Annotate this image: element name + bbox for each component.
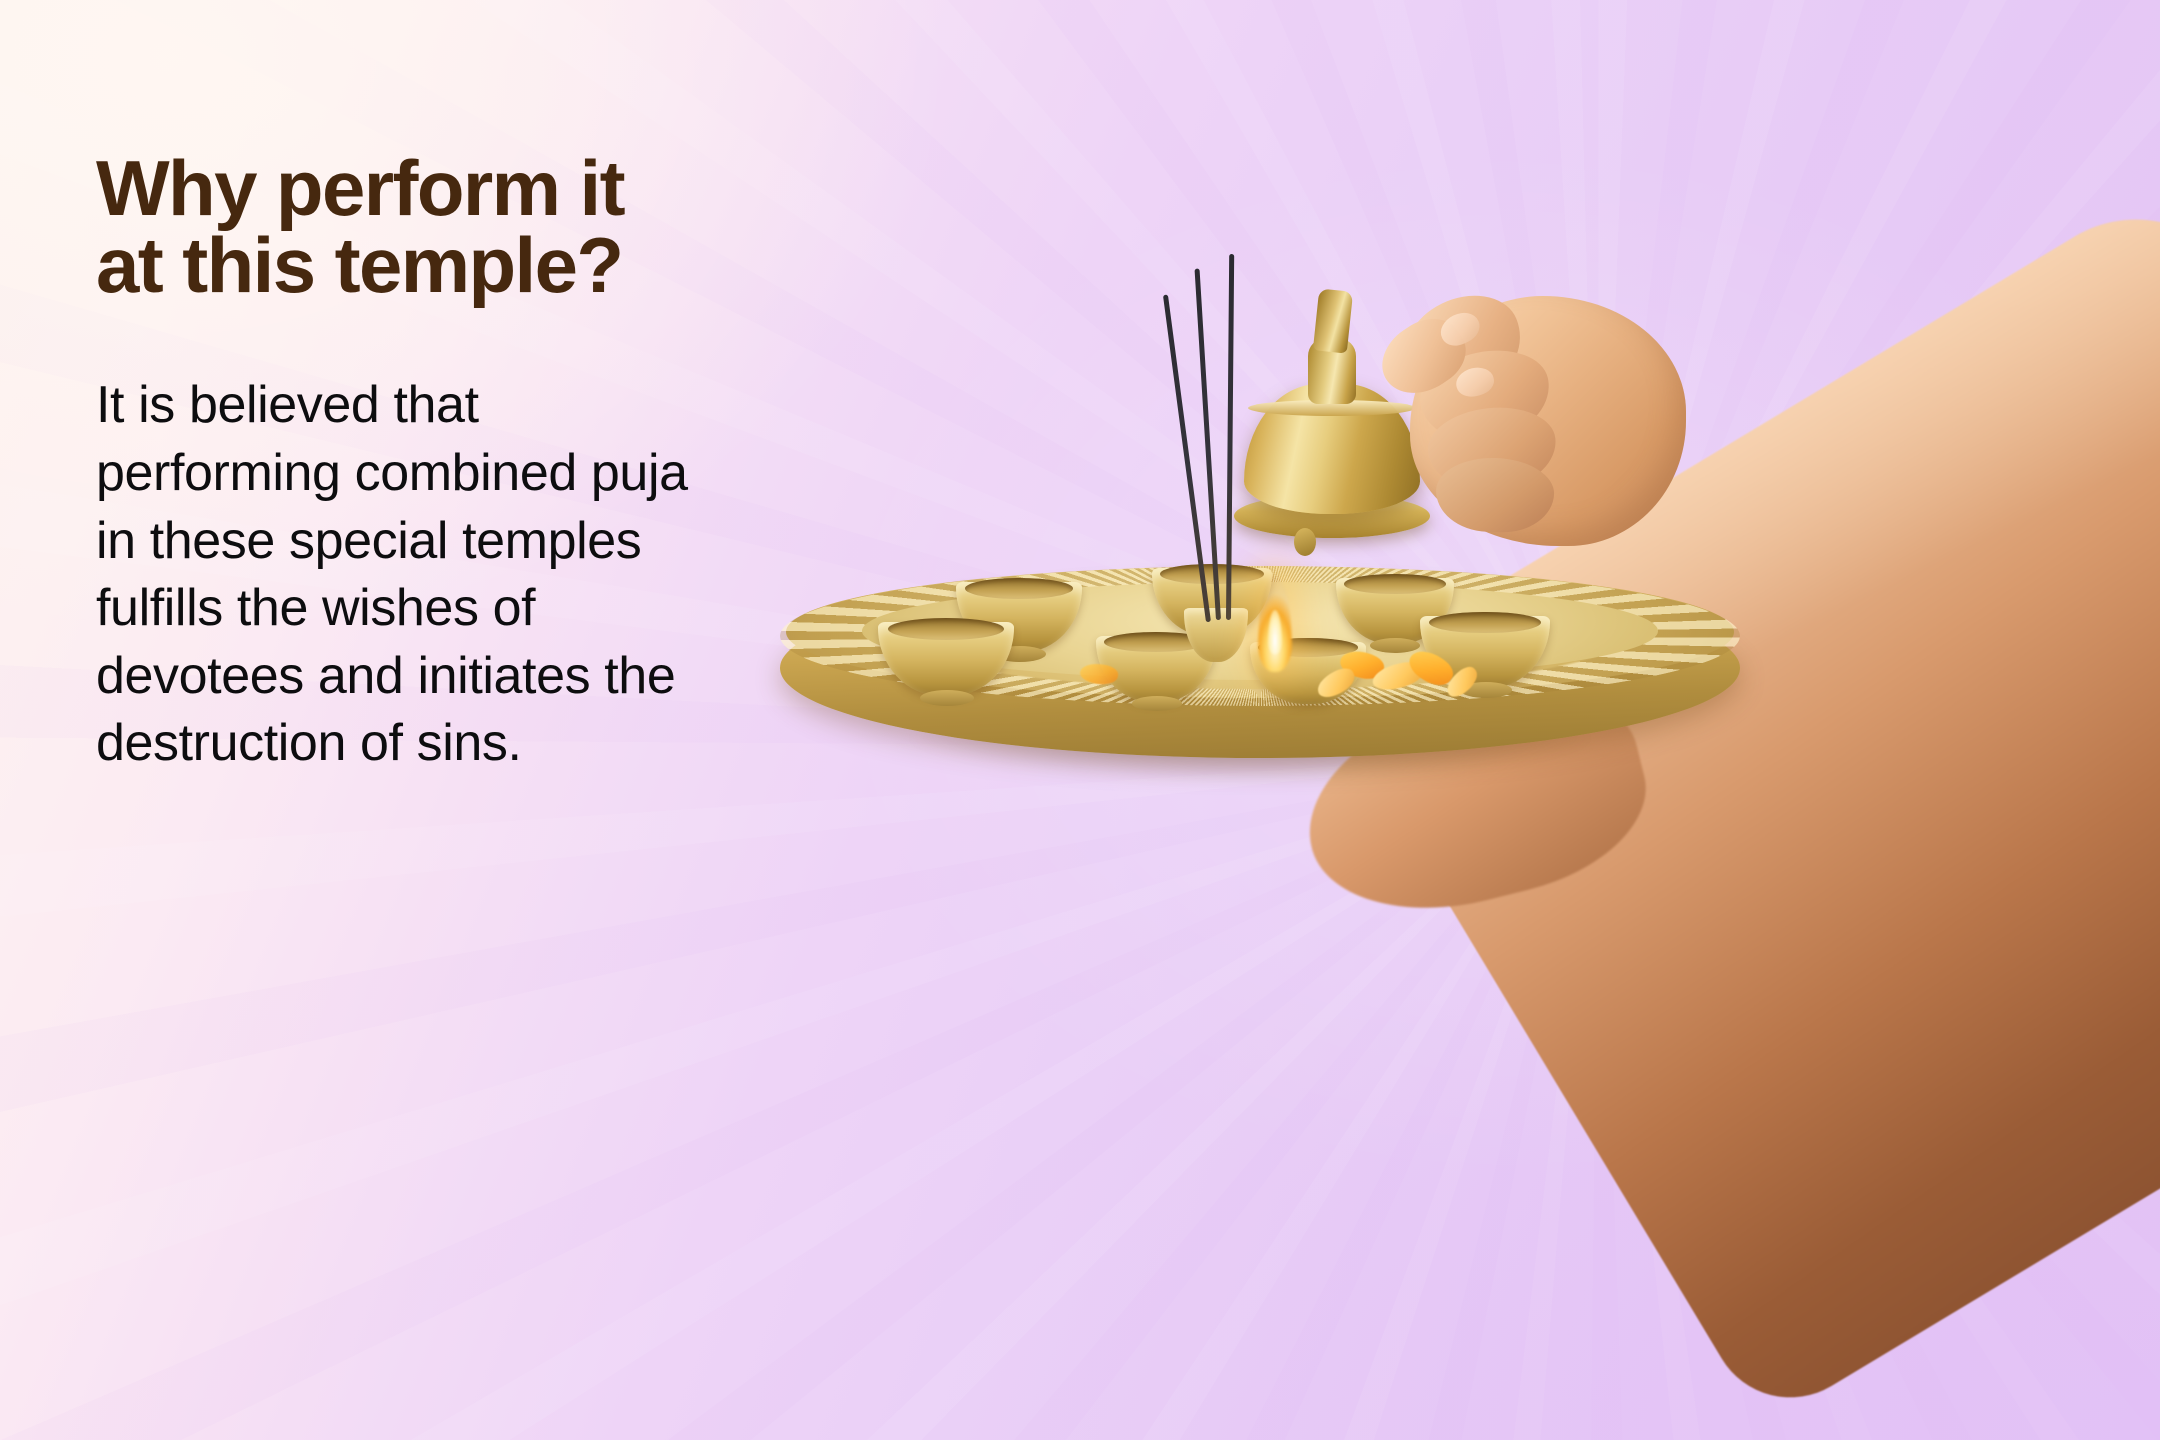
diya-foot [1370,638,1420,653]
diya-foot [920,690,974,706]
text-column: Why perform it at this temple? It is bel… [96,150,756,778]
headline: Why perform it at this temple? [96,150,756,304]
hand [1370,288,1700,588]
puja-thali [780,560,1740,790]
puja-photo [760,0,2160,1440]
bell-and-hand [1220,288,1580,588]
diya-foot [1132,696,1182,711]
body-paragraph: It is believed that performing combined … [96,372,736,778]
bell-handle [1313,288,1353,353]
bell-clapper [1294,528,1316,556]
slide-canvas: Why perform it at this temple? It is bel… [0,0,2160,1440]
